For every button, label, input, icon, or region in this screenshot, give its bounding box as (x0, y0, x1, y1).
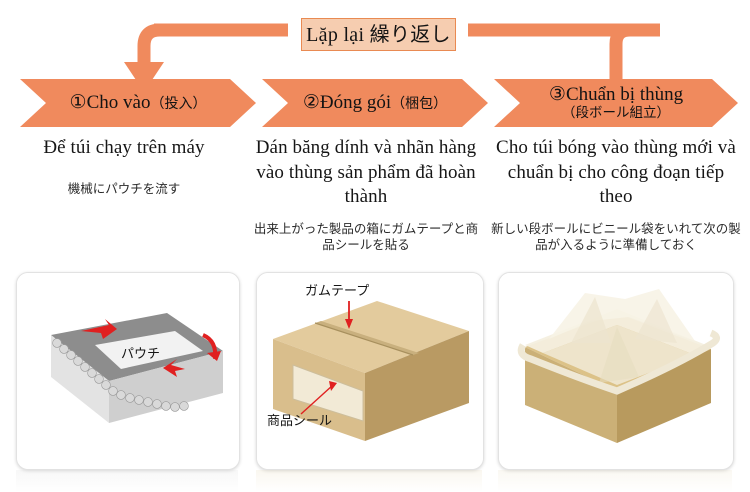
sealed-carton-photo: ガムテープ 商品シール (257, 273, 483, 469)
step-1-description-jp: 機械にパウチを流す (8, 181, 240, 197)
step-1-badge: ① (70, 92, 87, 113)
step-1-description-vn: Để túi chạy trên máy (8, 136, 240, 161)
step-3-heading-jp: （段ボール組立） (562, 106, 670, 121)
step-2-badge: ② (303, 92, 320, 113)
lined-carton-photo (499, 273, 733, 469)
callout-product-seal: 商品シール (267, 414, 332, 429)
step-2-photo-panel: ガムテープ 商品シール (256, 272, 484, 470)
step-3-description-vn: Cho túi bóng vào thùng mới và chuẩn bị c… (490, 136, 742, 210)
step-banner-2[interactable]: ②Đóng gói（梱包） (262, 79, 488, 127)
step-banner-3-heading: ③Chuẩn bị thùng (549, 85, 683, 105)
step-column-2: Dán băng dính và nhãn hàng vào thùng sản… (248, 136, 484, 254)
step-1-heading-vn: Cho vào (87, 92, 151, 113)
step-banner-1-heading: ①Cho vào（投入） (70, 93, 207, 113)
step-2-description-jp: 出来上がった製品の箱にガムテープと商品シールを貼る (248, 221, 484, 254)
step-banner-2-heading: ②Đóng gói（梱包） (303, 93, 447, 113)
step-3-photo-panel (498, 272, 734, 470)
step-3-heading-vn: Chuẩn bị thùng (566, 84, 683, 105)
conveyor-machine-photo: パウチ (17, 273, 239, 469)
step-banner-3[interactable]: ③Chuẩn bị thùng （段ボール組立） (494, 79, 738, 127)
panel-3-reflection (498, 470, 732, 492)
step-3-description-jp: 新しい段ボールにビニール袋をいれて次の製品が入るように準備しておく (490, 221, 742, 254)
step-2-heading-vn: Đóng gói (320, 92, 391, 113)
step-column-3: Cho túi bóng vào thùng mới và chuẩn bị c… (490, 136, 742, 254)
step-banner-1[interactable]: ①Cho vào（投入） (20, 79, 256, 127)
step-2-description-vn: Dán băng dính và nhãn hàng vào thùng sản… (248, 136, 484, 210)
step-1-photo-panel: パウチ (16, 272, 240, 470)
panel-1-reflection (16, 470, 238, 492)
repeat-label: Lặp lại 繰り返し (301, 18, 456, 51)
callout-gum-tape: ガムテープ (305, 284, 369, 299)
callout-pouch: パウチ (121, 347, 160, 362)
step-column-1: Để túi chạy trên máy 機械にパウチを流す (8, 136, 240, 197)
step-1-heading-jp: （投入） (150, 97, 206, 112)
step-3-badge: ③ (549, 84, 566, 105)
step-2-heading-jp: （梱包） (391, 97, 447, 112)
panel-2-reflection (256, 470, 482, 492)
